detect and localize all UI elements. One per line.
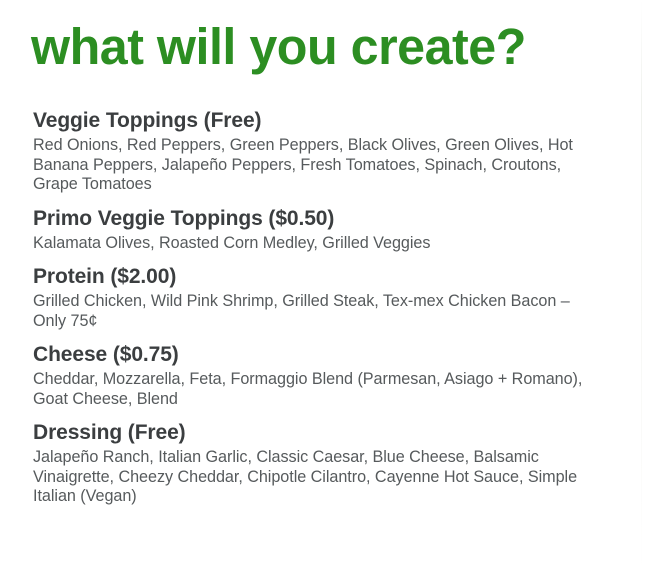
page-headline: what will you create?: [31, 18, 634, 76]
section-items: Grilled Chicken, Wild Pink Shrimp, Grill…: [33, 292, 585, 331]
menu-page: what will you create? Veggie Toppings (F…: [0, 0, 650, 573]
section-heading: Primo Veggie Toppings ($0.50): [33, 206, 589, 231]
menu-section-primo-veggie-toppings: Primo Veggie Toppings ($0.50) Kalamata O…: [33, 206, 589, 254]
menu-sections-list: Veggie Toppings (Free) Red Onions, Red P…: [33, 108, 589, 507]
menu-section-cheese: Cheese ($0.75) Cheddar, Mozzarella, Feta…: [33, 342, 589, 409]
section-items: Red Onions, Red Peppers, Green Peppers, …: [33, 136, 585, 195]
section-items: Cheddar, Mozzarella, Feta, Formaggio Ble…: [33, 370, 585, 409]
section-heading: Dressing (Free): [33, 420, 589, 445]
section-items: Jalapeño Ranch, Italian Garlic, Classic …: [33, 448, 585, 507]
page-edge-shadow: [641, 0, 642, 573]
menu-section-protein: Protein ($2.00) Grilled Chicken, Wild Pi…: [33, 264, 589, 331]
section-heading: Cheese ($0.75): [33, 342, 589, 367]
menu-section-veggie-toppings: Veggie Toppings (Free) Red Onions, Red P…: [33, 108, 589, 195]
section-heading: Veggie Toppings (Free): [33, 108, 589, 133]
menu-section-dressing: Dressing (Free) Jalapeño Ranch, Italian …: [33, 420, 589, 507]
section-heading: Protein ($2.00): [33, 264, 589, 289]
section-items: Kalamata Olives, Roasted Corn Medley, Gr…: [33, 234, 585, 254]
